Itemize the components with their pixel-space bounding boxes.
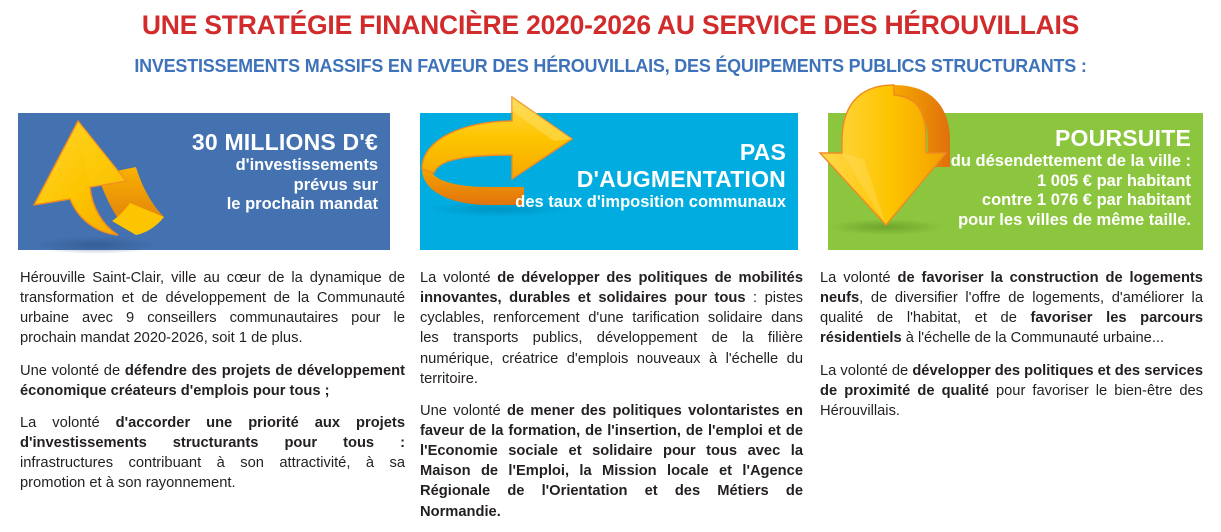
panel-debt-reduction: POURSUITE du désendettement de la ville … xyxy=(828,113,1203,250)
panel-investments-line-2: prévus sur xyxy=(192,176,378,195)
panel-investments-headline: 30 MILLIONS D'€ xyxy=(192,129,378,156)
body-text: Hérouville Saint-Clair, ville au cœur de… xyxy=(20,270,405,346)
paragraph: Une volonté de défendre des projets de d… xyxy=(20,361,405,401)
panel-debt-reduction-line-1: du désendettement de la ville : xyxy=(951,152,1191,171)
page-subtitle: INVESTISSEMENTS MASSIFS EN FAVEUR DES HÉ… xyxy=(18,39,1202,76)
panel-no-tax-increase: PAS D'AUGMENTATION des taux d'imposition… xyxy=(420,113,798,250)
text-column-1: Hérouville Saint-Clair, ville au cœur de… xyxy=(20,268,405,493)
panel-debt-reduction-line-3: contre 1 076 € par habitant xyxy=(951,191,1191,210)
body-text: Une volonté xyxy=(420,403,507,419)
page-title: UNE STRATÉGIE FINANCIÈRE 2020-2026 AU SE… xyxy=(12,0,1209,39)
panel-investments-line-1: d'investissements xyxy=(192,156,378,175)
emphasis-text: de mener des politiques volontaristes en… xyxy=(420,403,803,520)
panel-investments: 30 MILLIONS D'€ d'investissements prévus… xyxy=(18,113,390,250)
paragraph: La volonté de développer des politiques … xyxy=(820,361,1203,421)
text-column-2: La volonté de développer des politiques … xyxy=(420,268,803,522)
body-text: Une volonté de xyxy=(20,363,125,379)
panel-debt-reduction-line-2: 1 005 € par habitant xyxy=(951,172,1191,191)
panel-no-tax-increase-text: PAS D'AUGMENTATION des taux d'imposition… xyxy=(515,139,786,213)
body-text: La volonté xyxy=(420,270,497,286)
highlight-panels: 30 MILLIONS D'€ d'investissements prévus… xyxy=(0,113,1221,253)
panel-no-tax-increase-line-1: des taux d'imposition communaux xyxy=(515,193,786,212)
panel-investments-text: 30 MILLIONS D'€ d'investissements prévus… xyxy=(192,129,378,215)
paragraph: La volonté de favoriser la construction … xyxy=(820,268,1203,349)
panel-no-tax-increase-headline-2: D'AUGMENTATION xyxy=(515,166,786,193)
paragraph: Hérouville Saint-Clair, ville au cœur de… xyxy=(20,268,405,349)
panel-debt-reduction-text: POURSUITE du désendettement de la ville … xyxy=(951,125,1191,230)
body-text: La volonté xyxy=(820,270,898,286)
text-column-3: La volonté de favoriser la construction … xyxy=(820,268,1203,421)
paragraph: Une volonté de mener des politiques volo… xyxy=(420,401,803,522)
body-text: infrastructures contribuant à son attrac… xyxy=(20,455,405,491)
body-text: à l'échelle de la Communauté urbaine... xyxy=(902,330,1164,346)
panel-no-tax-increase-headline-1: PAS xyxy=(515,139,786,166)
panel-debt-reduction-line-4: pour les villes de même taille. xyxy=(951,211,1191,230)
panel-investments-line-3: le prochain mandat xyxy=(192,195,378,214)
panel-debt-reduction-headline: POURSUITE xyxy=(951,125,1191,152)
body-text: La volonté de xyxy=(820,363,912,379)
paragraph: La volonté de développer des politiques … xyxy=(420,268,803,389)
paragraph: La volonté d'accorder une priorité aux p… xyxy=(20,413,405,494)
body-text: La volonté xyxy=(20,415,116,431)
